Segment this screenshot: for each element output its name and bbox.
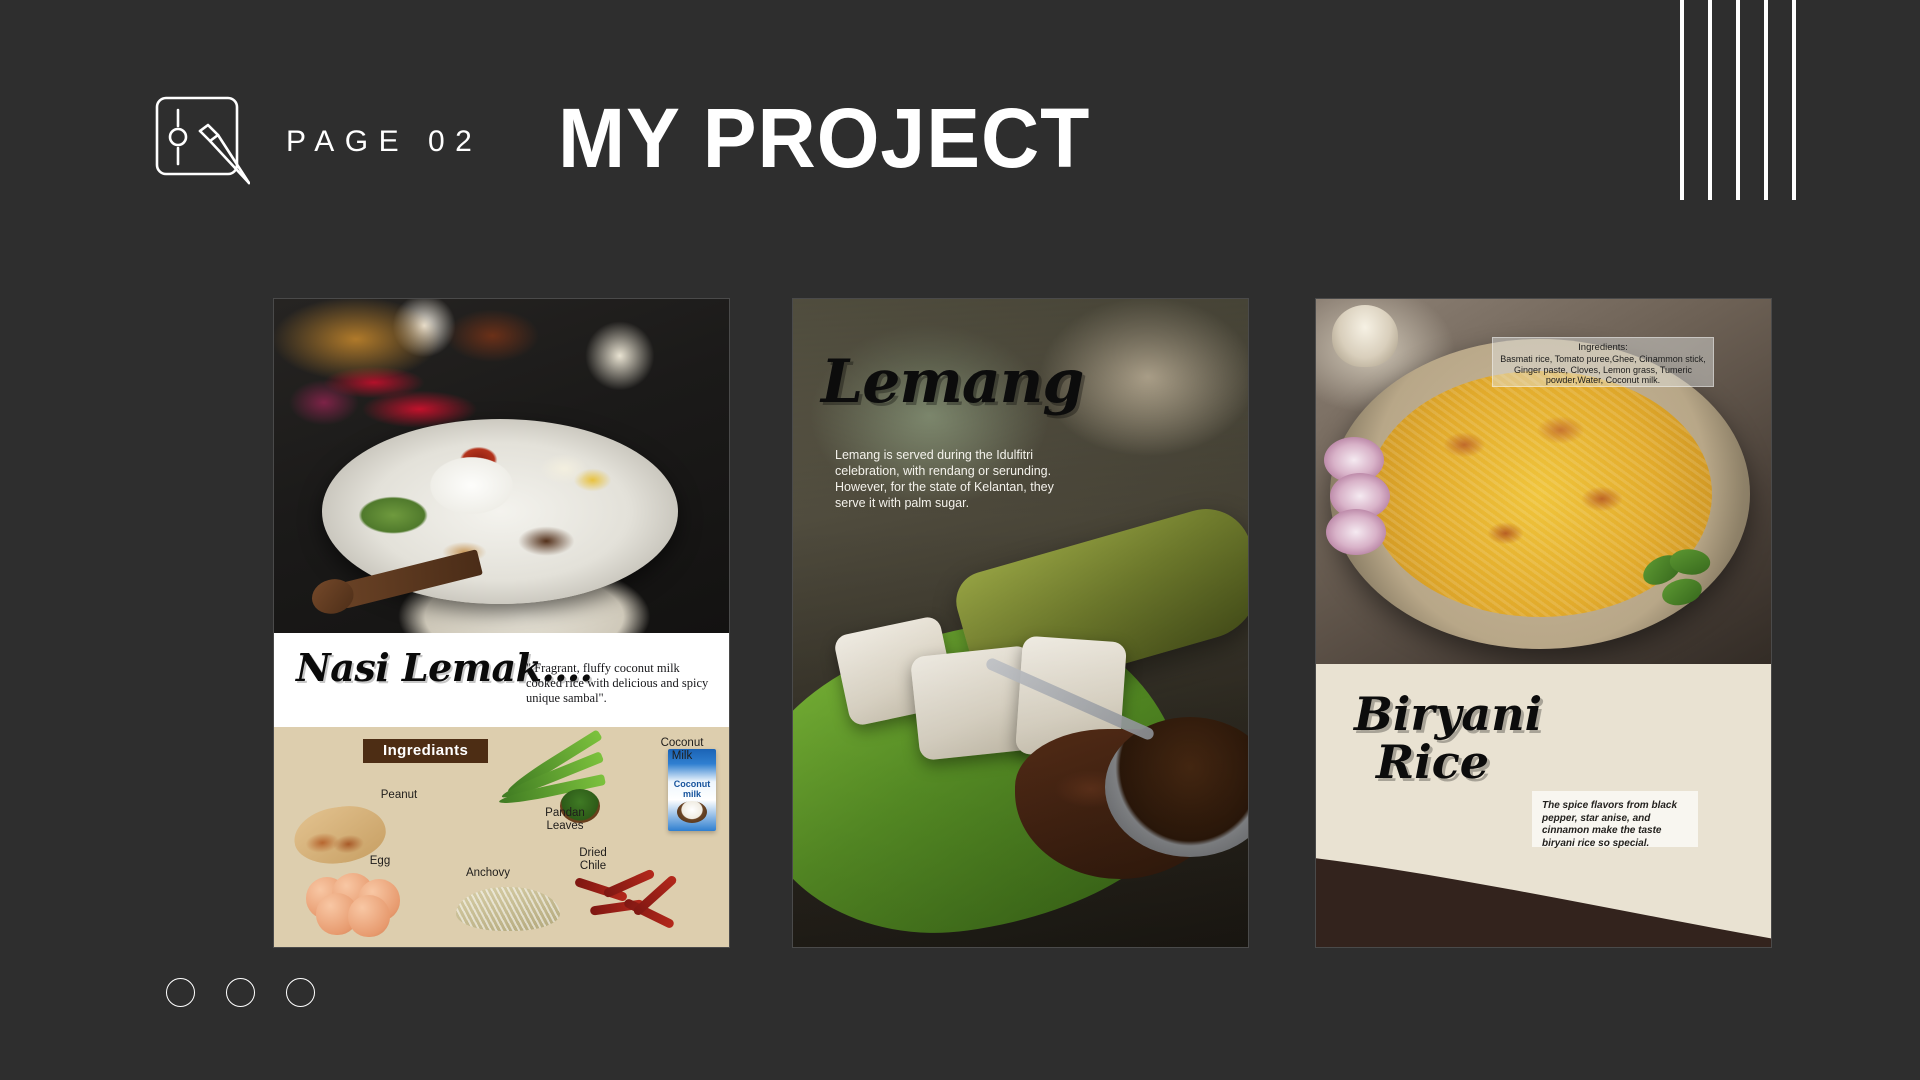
stripe-2 [1708,0,1712,200]
ingredients-badge: Ingrediants [363,739,488,763]
nasi-lemak-quote: " Fragrant, fluffy coconut milk cooked r… [526,661,718,706]
anchovy-icon [456,887,560,931]
pagination-dot-1[interactable] [166,978,195,1007]
biryani-ingredients-text: Basmati rice, Tomato puree,Ghee, Cinammo… [1499,354,1707,386]
stripe-5 [1792,0,1796,200]
ingredient-label-dried-chile: Dried Chile [571,847,615,873]
ingredient-label-egg: Egg [362,855,398,868]
nasi-lemak-title-band: Nasi Lemak.... " Fragrant, fluffy coconu… [274,633,729,727]
mint-leaves-icon [1642,549,1732,615]
onion-rings-icon [1324,437,1402,557]
page-title: MY PROJECT [558,96,1090,180]
biryani-title: Biryani Rice [1354,690,1542,786]
decorative-stripes [1680,0,1820,200]
biryani-title-line1: Biryani [1354,687,1542,741]
pagination-dot-2[interactable] [226,978,255,1007]
ingredient-label-pandan-leaves: Pandan Leaves [536,807,594,833]
biryani-ingredients-heading: Ingredients: [1499,342,1707,353]
stripe-4 [1764,0,1768,200]
nasi-lemak-photo [274,299,729,633]
card-lemang[interactable]: Lemang Lemang is served during the Idulf… [793,299,1248,947]
wave-decoration [1316,823,1771,947]
dried-chile-icon [570,875,690,937]
stripe-3 [1736,0,1740,200]
card-nasi-lemak[interactable]: Nasi Lemak.... " Fragrant, fluffy coconu… [274,299,729,947]
clay-cup-shape [1332,305,1398,367]
biryani-ingredients-box: Ingredients: Basmati rice, Tomato puree,… [1492,337,1714,387]
slide-header: PAGE 02 MY PROJECT [0,0,1920,230]
biryani-photo: Ingredients: Basmati rice, Tomato puree,… [1316,299,1771,664]
ingredient-label-anchovy: Anchovy [457,867,519,880]
stripe-1 [1680,0,1684,200]
lemang-title: Lemang [821,347,1083,417]
egg-icon [304,877,400,935]
ingredient-label-coconut-milk: Coconut Milk [654,737,710,763]
nasi-lemak-ingredients-band: Ingrediants Peanut Pandan Leaves Coconut… [274,727,729,947]
tablet-stylus-icon [152,93,250,185]
lemang-description: Lemang is served during the Idulfitri ce… [835,447,1081,511]
pagination-dot-3[interactable] [286,978,315,1007]
ingredient-label-peanut: Peanut [371,789,427,802]
biryani-title-band: Biryani Rice The spice flavors from blac… [1316,664,1771,947]
slide-root: PAGE 02 MY PROJECT Nasi Lemak.... " Frag… [0,0,1920,1080]
page-label: PAGE 02 [286,125,482,159]
biryani-title-line2: Rice [1376,738,1542,786]
card-biryani-rice[interactable]: Ingredients: Basmati rice, Tomato puree,… [1316,299,1771,947]
